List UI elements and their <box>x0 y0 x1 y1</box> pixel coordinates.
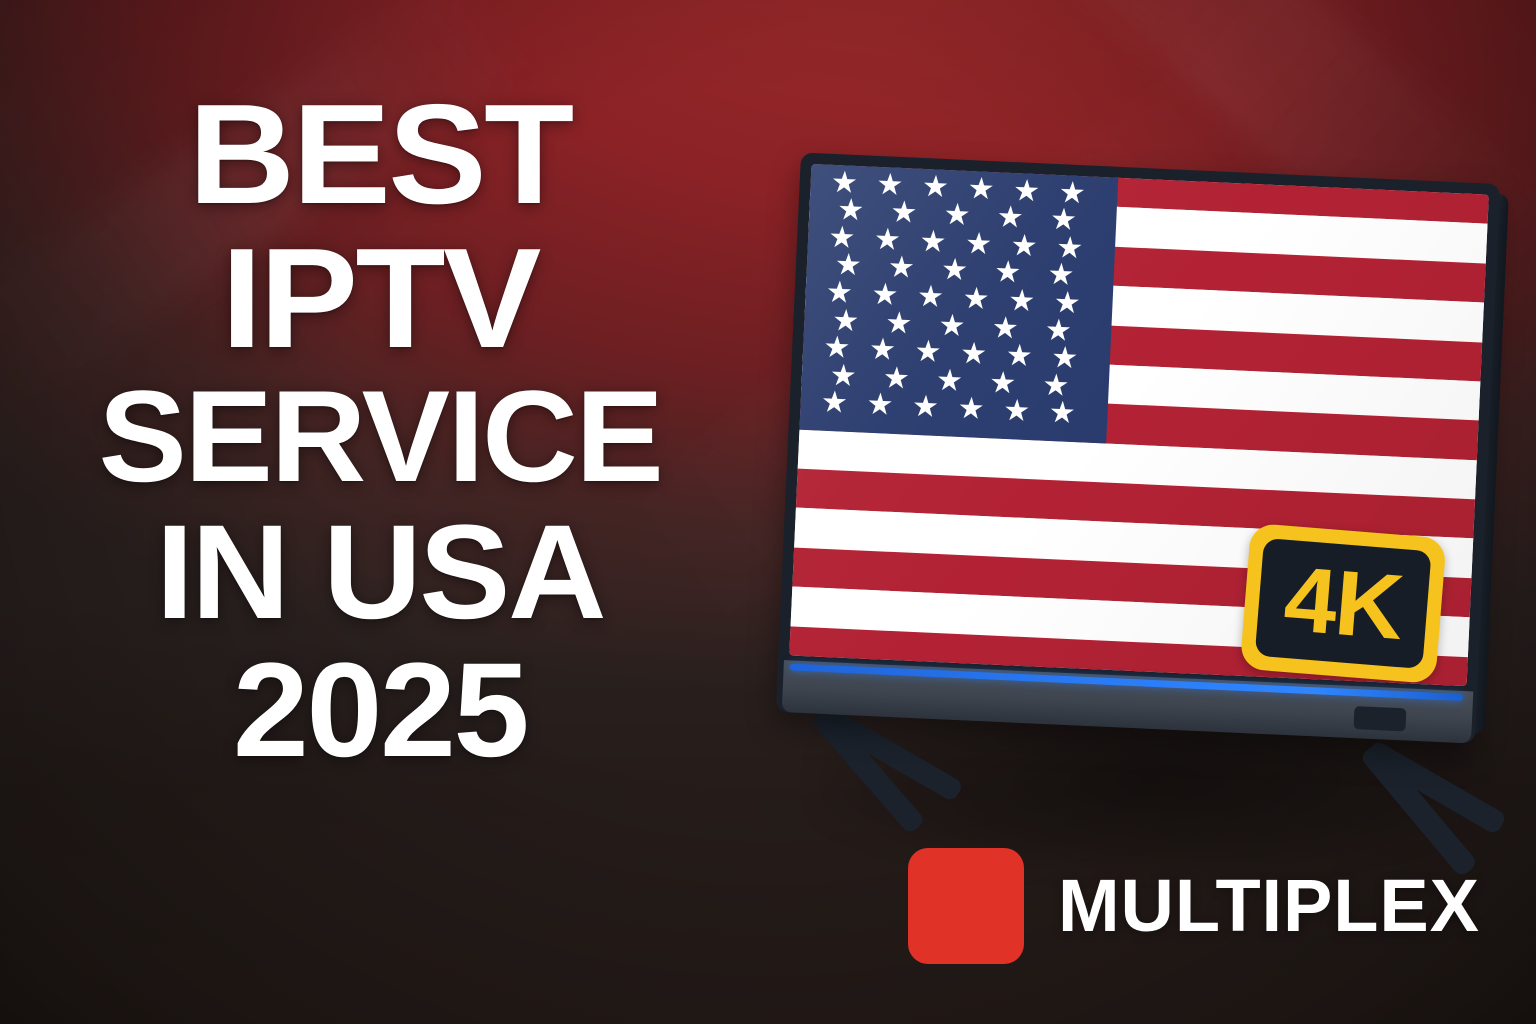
headline-block: BEST IPTV SERVICE IN USA 2025 <box>0 86 760 776</box>
badge-label: 4K <box>1281 553 1405 654</box>
tv-body: ★★★★★★★★★★★★★★★★★★★★★★★★★★★★★★★★★★★★★★★★… <box>776 152 1501 743</box>
flag-star: ★ <box>911 392 939 423</box>
flag-canton: ★★★★★★★★★★★★★★★★★★★★★★★★★★★★★★★★★★★★★★★★… <box>789 164 1119 444</box>
flag-star: ★ <box>866 390 894 421</box>
thumbnail-canvas: BEST IPTV SERVICE IN USA 2025 ★★★★★★★★★★… <box>0 0 1536 1024</box>
flag-star: ★ <box>820 388 848 419</box>
tv-screen: ★★★★★★★★★★★★★★★★★★★★★★★★★★★★★★★★★★★★★★★★… <box>789 164 1489 686</box>
quality-badge-4k: 4K <box>1240 523 1447 684</box>
headline-line-4: IN USA <box>0 508 768 638</box>
headline-line-1: BEST <box>0 86 775 224</box>
television: ★★★★★★★★★★★★★★★★★★★★★★★★★★★★★★★★★★★★★★★★… <box>778 150 1508 830</box>
headline-line-3: SERVICE <box>0 373 768 499</box>
brand-name: MULTIPLEX <box>1058 869 1480 943</box>
headline-line-5: 2025 <box>0 646 768 776</box>
flag-star: ★ <box>1048 398 1076 429</box>
screen-cast-icon <box>908 848 1024 964</box>
badge-fill: 4K <box>1255 538 1432 669</box>
brand-lockup: MULTIPLEX <box>908 848 1480 964</box>
tv-ir-sensor <box>1353 706 1406 731</box>
flag-star: ★ <box>1003 396 1031 427</box>
headline-line-2: IPTV <box>0 230 775 368</box>
flag-star: ★ <box>957 394 985 425</box>
